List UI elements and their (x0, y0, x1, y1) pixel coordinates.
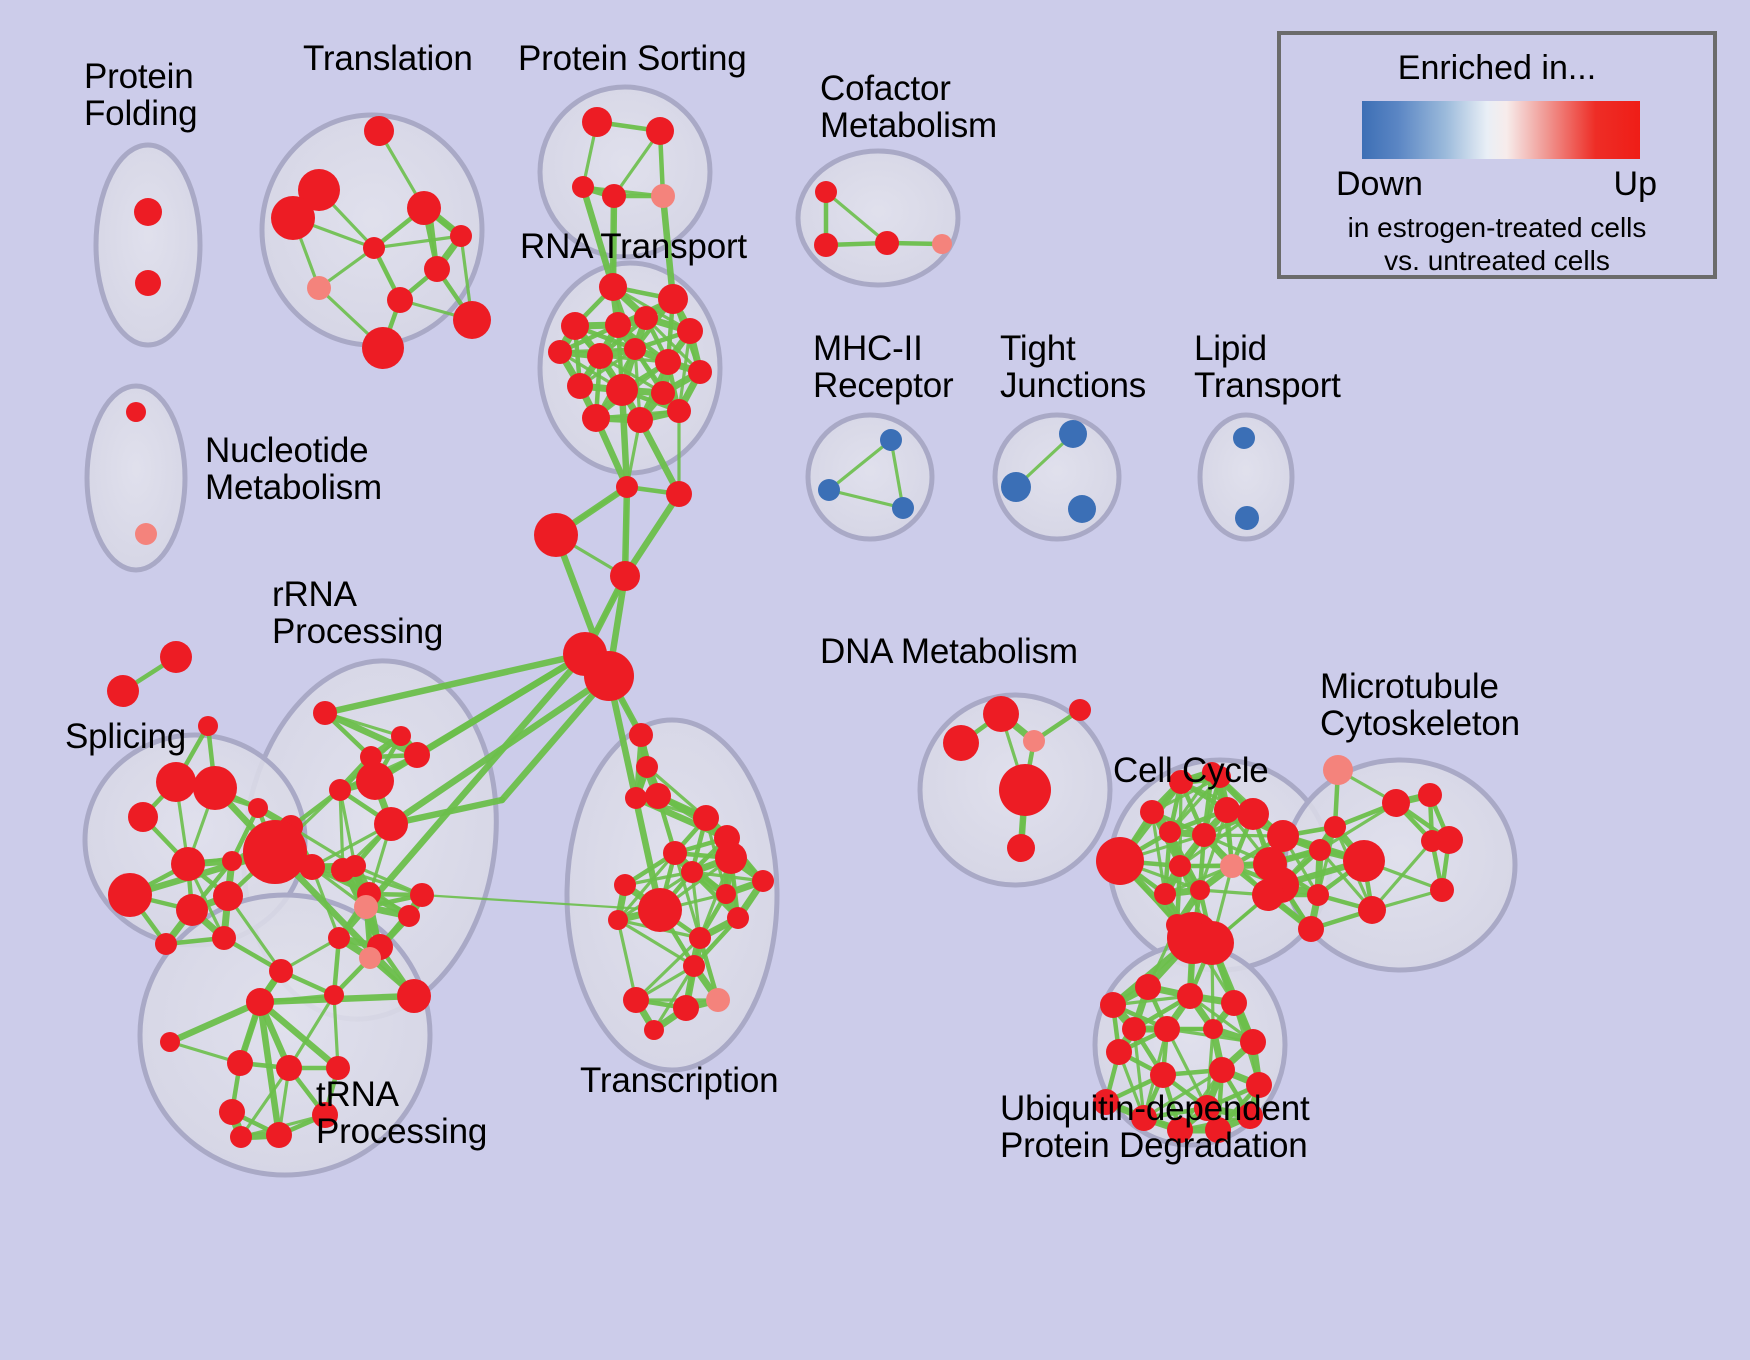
network-node (999, 764, 1051, 816)
network-node (266, 1122, 292, 1148)
network-node (667, 399, 691, 423)
network-node (1323, 755, 1353, 785)
cluster-label-protein-sorting: Protein Sorting (518, 40, 747, 77)
network-node (548, 340, 572, 364)
network-node (354, 895, 378, 919)
network-node (271, 196, 315, 240)
network-node (135, 270, 161, 296)
cluster-label-cell-cycle: Cell Cycle (1113, 752, 1269, 789)
cluster-label-transcription: Transcription (580, 1062, 778, 1099)
network-node (625, 787, 647, 809)
cluster-label-microtubule: Microtubule Cytoskeleton (1320, 668, 1520, 742)
network-node (875, 231, 899, 255)
network-node (212, 926, 236, 950)
network-node (1190, 921, 1234, 965)
network-node (1221, 990, 1247, 1016)
network-node (689, 927, 711, 949)
network-node (160, 1032, 180, 1052)
network-node (608, 910, 628, 930)
cluster-label-rrna: rRNA Processing (272, 576, 443, 650)
cluster-hull (96, 145, 200, 345)
network-node (1209, 1057, 1235, 1083)
network-node (1307, 884, 1329, 906)
network-node (329, 779, 351, 801)
network-node (398, 905, 420, 927)
network-node (230, 1126, 252, 1148)
network-node (614, 874, 636, 896)
network-node (567, 373, 593, 399)
network-node (646, 117, 674, 145)
network-node (715, 842, 747, 874)
network-node (1192, 823, 1216, 847)
network-node (605, 312, 631, 338)
network-node (331, 858, 355, 882)
cluster-hull (798, 151, 958, 285)
network-node (655, 349, 681, 375)
network-node (126, 402, 146, 422)
network-node (307, 276, 331, 300)
network-node (716, 884, 736, 904)
network-node (213, 881, 243, 911)
network-node (666, 481, 692, 507)
network-node (932, 234, 952, 254)
network-node (561, 312, 589, 340)
network-node (1252, 879, 1284, 911)
network-node (1100, 992, 1126, 1018)
network-node (1343, 840, 1385, 882)
legend-subtitle: in estrogen-treated cells vs. untreated … (1281, 211, 1713, 277)
network-node (572, 176, 594, 198)
network-node (193, 766, 237, 810)
cluster-label-ubiquitin-dependent: Ubiquitin-dependent Protein Degradation (1000, 1090, 1310, 1164)
network-node (1135, 974, 1161, 1000)
network-node (420, 201, 440, 221)
network-node (983, 696, 1019, 732)
legend-color-gradient-bar (1362, 101, 1640, 159)
legend-panel: Enriched in... Down Up in estrogen-treat… (1277, 31, 1717, 279)
network-node (818, 479, 840, 501)
network-node (1001, 472, 1031, 502)
network-node (1430, 878, 1454, 902)
network-node (1220, 854, 1244, 878)
network-node (629, 723, 653, 747)
network-node (1214, 797, 1240, 823)
network-node (1150, 1062, 1176, 1088)
network-node (219, 1099, 245, 1125)
network-node (1235, 506, 1259, 530)
network-node (397, 979, 431, 1013)
network-node (681, 861, 703, 883)
network-node (128, 802, 158, 832)
network-node (450, 225, 472, 247)
network-node (1382, 789, 1410, 817)
network-node (892, 497, 914, 519)
network-node (1106, 1039, 1132, 1065)
cluster-label-cofactor: Cofactor Metabolism (820, 70, 997, 144)
network-node (387, 287, 413, 313)
network-node (688, 360, 712, 384)
network-node (943, 725, 979, 761)
network-node (135, 523, 157, 545)
network-node (1154, 1016, 1180, 1042)
network-node (134, 198, 162, 226)
network-node (1309, 839, 1331, 861)
network-node (160, 641, 192, 673)
network-node (752, 870, 774, 892)
network-node (156, 762, 196, 802)
network-node (627, 407, 653, 433)
network-node (1068, 495, 1096, 523)
network-node (227, 1050, 253, 1076)
network-node (324, 985, 344, 1005)
network-node (1190, 880, 1210, 900)
network-node (599, 273, 627, 301)
network-node (1177, 983, 1203, 1009)
network-node (243, 820, 307, 884)
network-node (1140, 800, 1164, 824)
network-node (1159, 821, 1181, 843)
network-node (651, 184, 675, 208)
network-node (222, 851, 242, 871)
network-node (328, 927, 350, 949)
cluster-label-splicing: Splicing (65, 718, 186, 755)
network-node (645, 783, 671, 809)
cluster-label-trna: tRNA Processing (316, 1076, 487, 1150)
network-node (636, 756, 658, 778)
cluster-label-nucleotide: Nucleotide Metabolism (205, 432, 382, 506)
network-node (313, 701, 337, 725)
network-node (610, 561, 640, 591)
network-node (534, 513, 578, 557)
network-node (1059, 420, 1087, 448)
network-node (391, 726, 411, 746)
network-node (1324, 816, 1346, 838)
network-node (634, 306, 658, 330)
network-node (644, 1020, 664, 1040)
network-node (638, 888, 682, 932)
legend-low-label: Down (1336, 165, 1423, 204)
network-node (269, 959, 293, 983)
enrichment-map-figure: Protein FoldingTranslationProtein Sortin… (0, 0, 1750, 1360)
network-node (706, 988, 730, 1012)
network-node (1298, 916, 1324, 942)
network-node (582, 107, 612, 137)
network-node (606, 374, 638, 406)
network-node (362, 327, 404, 369)
network-node (356, 762, 394, 800)
cluster-label-rna-transport: RNA Transport (520, 228, 747, 265)
network-node (1240, 1029, 1266, 1055)
network-node (171, 847, 205, 881)
cluster-label-mhc-ii: MHC-II Receptor (813, 330, 953, 404)
network-node (374, 807, 408, 841)
network-node (107, 675, 139, 707)
network-node (363, 237, 385, 259)
network-node (693, 805, 719, 831)
network-node (880, 429, 902, 451)
network-node (1122, 1017, 1146, 1041)
network-node (1418, 783, 1442, 807)
network-node (623, 987, 649, 1013)
network-node (651, 381, 675, 405)
network-node (1069, 699, 1091, 721)
network-node (658, 284, 688, 314)
cluster-label-tight: Tight Junctions (1000, 330, 1146, 404)
cluster-label-lipid: Lipid Transport (1194, 330, 1341, 404)
network-node (673, 995, 699, 1021)
network-node (1237, 798, 1269, 830)
network-node (683, 955, 705, 977)
network-node (364, 116, 394, 146)
network-node (814, 233, 838, 257)
network-node (584, 651, 634, 701)
network-node (587, 343, 613, 369)
network-node (602, 184, 626, 208)
network-node (198, 716, 218, 736)
network-node (616, 476, 638, 498)
network-node (1096, 837, 1144, 885)
network-node (815, 181, 837, 203)
network-node (108, 873, 152, 917)
network-node (582, 404, 610, 432)
network-node (727, 907, 749, 929)
network-node (246, 988, 274, 1016)
network-node (155, 933, 177, 955)
network-node (1435, 826, 1463, 854)
network-node (176, 894, 208, 926)
legend-title: Enriched in... (1281, 49, 1713, 88)
network-node (1023, 730, 1045, 752)
network-node (1169, 855, 1191, 877)
network-node (248, 798, 268, 818)
network-node (663, 841, 687, 865)
cluster-hull (808, 415, 932, 539)
network-node (1203, 1019, 1223, 1039)
network-node (1154, 883, 1176, 905)
network-node (410, 883, 434, 907)
network-node (299, 854, 325, 880)
network-node (453, 301, 491, 339)
network-node (404, 742, 430, 768)
cluster-label-dna-metabolism: DNA Metabolism (820, 633, 1078, 670)
network-node (1007, 834, 1035, 862)
network-node (424, 256, 450, 282)
cluster-label-protein: Protein Folding (84, 58, 197, 132)
legend-high-label: Up (1614, 165, 1657, 204)
network-node (276, 1055, 302, 1081)
network-node (359, 947, 381, 969)
network-node (677, 318, 703, 344)
network-node (1233, 427, 1255, 449)
cluster-label-translation: Translation (303, 40, 473, 77)
network-node (1358, 896, 1386, 924)
network-node (624, 338, 646, 360)
